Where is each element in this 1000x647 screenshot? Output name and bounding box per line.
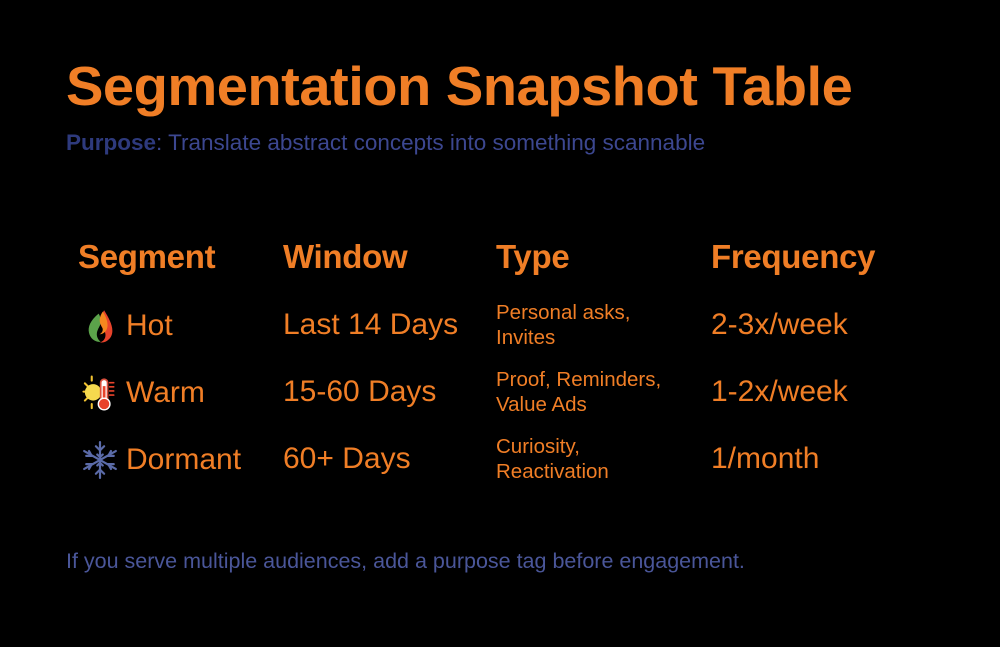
column-header-frequency: Frequency — [711, 240, 936, 273]
type-line-2: Reactivation — [496, 460, 609, 483]
cell-segment: Dormant — [78, 438, 283, 482]
subtitle-label: Purpose — [66, 130, 156, 155]
table-row: Warm 15-60 Days Proof, Reminders, Value … — [78, 359, 938, 426]
cell-type: Proof, Reminders, Value Ads — [496, 368, 711, 416]
type-line-2: Invites — [496, 326, 555, 349]
cell-type: Curiosity, Reactivation — [496, 435, 711, 483]
cell-window: Last 14 Days — [283, 309, 496, 341]
snowflake-emoji-icon — [78, 438, 122, 482]
cell-segment: Hot — [78, 304, 283, 348]
fire-emoji-icon — [78, 304, 122, 348]
type-line-1: Proof, Reminders, — [496, 368, 661, 391]
cell-frequency: 2-3x/week — [711, 309, 936, 341]
subtitle: Purpose: Translate abstract concepts int… — [66, 129, 946, 156]
type-line-1: Curiosity, — [496, 435, 580, 458]
table-header-row: Segment Window Type Frequency — [78, 240, 938, 292]
cell-type: Personal asks, Invites — [496, 301, 711, 349]
cell-segment: Warm — [78, 371, 283, 415]
column-header-segment: Segment — [78, 240, 283, 273]
column-header-window: Window — [283, 240, 496, 273]
table-row: Hot Last 14 Days Personal asks, Invites … — [78, 292, 938, 359]
subtitle-text: : Translate abstract concepts into somet… — [156, 130, 705, 155]
thermometer-sun-emoji-icon — [78, 371, 122, 415]
segment-label: Warm — [126, 377, 205, 409]
type-line-1: Personal asks, — [496, 301, 630, 324]
page-title: Segmentation Snapshot Table — [66, 58, 964, 116]
table-row: Dormant 60+ Days Curiosity, Reactivation… — [78, 426, 938, 493]
cell-window: 15-60 Days — [283, 376, 496, 408]
column-header-type: Type — [496, 240, 711, 273]
cell-frequency: 1/month — [711, 443, 936, 475]
cell-frequency: 1-2x/week — [711, 376, 936, 408]
segmentation-table: Segment Window Type Frequency Hot Last 1… — [78, 240, 938, 493]
type-line-2: Value Ads — [496, 393, 587, 416]
cell-window: 60+ Days — [283, 443, 496, 475]
header: Segmentation Snapshot Table Purpose: Tra… — [66, 58, 946, 156]
slide-canvas: Segmentation Snapshot Table Purpose: Tra… — [0, 0, 1000, 647]
footer-note: If you serve multiple audiences, add a p… — [66, 549, 966, 575]
segment-label: Hot — [126, 310, 173, 342]
segment-label: Dormant — [126, 444, 241, 476]
